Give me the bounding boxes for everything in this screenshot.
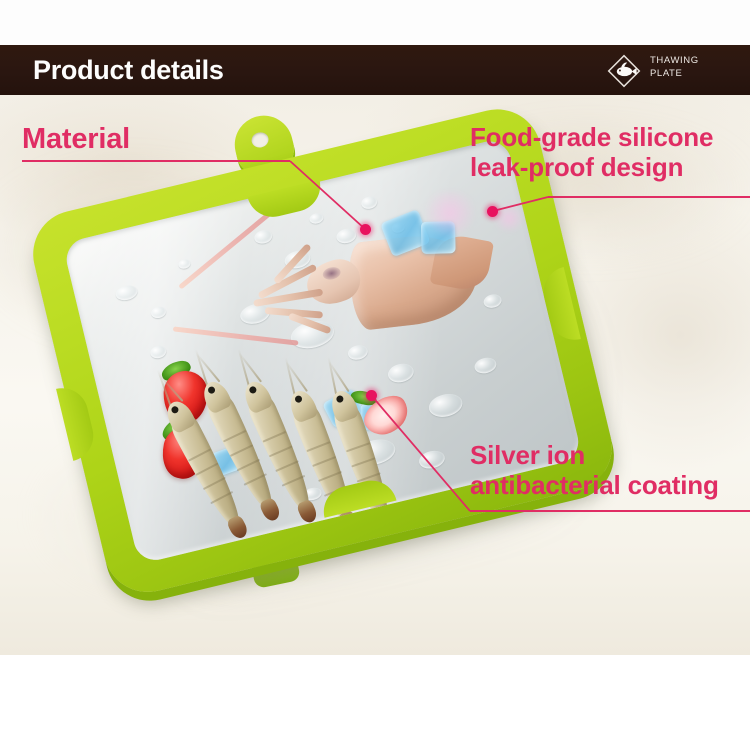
top-white-strip xyxy=(0,0,750,45)
product-detail-image: Product details THAWINGPLATE xyxy=(0,0,750,750)
bottom-white-strip xyxy=(0,730,750,750)
callout-label-silicone: Food-grade silicone leak-proof design xyxy=(470,122,713,182)
brand-logo: THAWINGPLATE xyxy=(606,52,728,90)
callout-rule-silver xyxy=(470,510,750,512)
brand-name: THAWINGPLATE xyxy=(650,55,699,80)
callout-dot-silicone xyxy=(487,206,498,217)
page-title: Product details xyxy=(33,50,224,90)
fish-in-diamond-logo-icon xyxy=(606,53,642,89)
water-droplet xyxy=(308,212,324,225)
squid-long-tentacle xyxy=(173,326,299,345)
water-droplet xyxy=(149,344,167,359)
shrimp-tail xyxy=(375,511,397,537)
water-droplet xyxy=(417,448,446,471)
water-droplet xyxy=(178,258,192,270)
food-layer xyxy=(62,137,582,564)
callout-silicone-line-2: leak-proof design xyxy=(470,152,713,182)
callout-silicone-line-1: Food-grade silicone xyxy=(470,122,713,152)
water-droplet xyxy=(473,356,498,376)
water-droplet xyxy=(360,195,378,210)
callout-silver-line-2: antibacterial coating xyxy=(470,470,719,500)
shrimp-tail xyxy=(296,498,319,525)
water-droplet xyxy=(114,283,139,302)
brand-name-line2: PLATE xyxy=(650,68,682,79)
lens-flare xyxy=(420,191,480,235)
callout-rule-material xyxy=(22,160,290,162)
shrimp-tail xyxy=(258,497,282,524)
brand-name-line1: THAWING xyxy=(650,55,699,66)
thawing-surface xyxy=(62,137,582,564)
callout-dot-material xyxy=(360,224,371,235)
callout-label-silver-ion: Silver ion antibacterial coating xyxy=(470,440,719,500)
callout-rule-silicone xyxy=(548,196,750,198)
callout-dot-silver xyxy=(366,390,377,401)
callout-silver-line-1: Silver ion xyxy=(470,440,719,470)
shrimp-tail xyxy=(226,514,250,541)
callout-material-line-1: Material xyxy=(22,122,130,156)
squid-long-tentacle xyxy=(178,211,272,290)
water-droplet xyxy=(150,305,167,319)
water-droplet xyxy=(427,391,465,420)
callout-label-material: Material xyxy=(22,122,130,156)
